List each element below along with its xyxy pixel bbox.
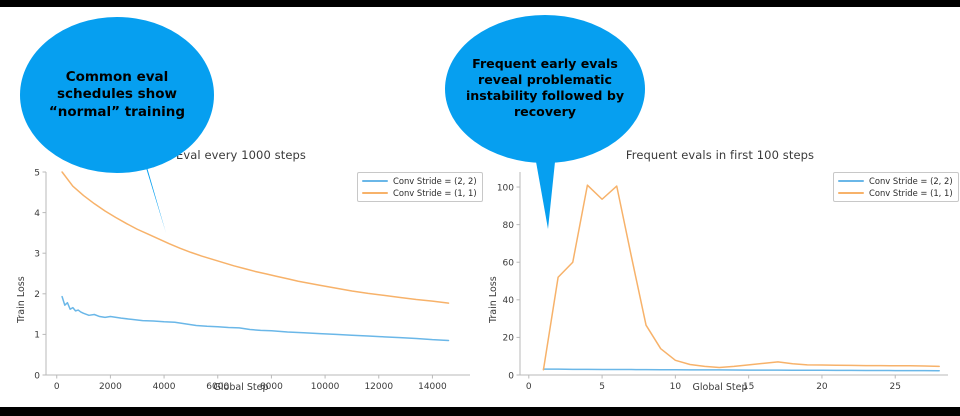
chart-right-xaxis-label: Global Step [482, 382, 958, 393]
svg-text:60: 60 [503, 259, 515, 269]
bottom-border-bar [0, 407, 960, 416]
callout-bubble-left: Common eval schedules show “normal” trai… [18, 15, 216, 237]
svg-text:3: 3 [34, 250, 40, 260]
chart-left-xaxis-label: Global Step [2, 382, 480, 393]
legend-swatch-blue [838, 180, 864, 182]
callout-bubble-right-shape [440, 13, 650, 231]
legend-swatch-orange [362, 192, 388, 194]
figure-stage: Eval every 1000 steps 020004000600080001… [0, 7, 960, 407]
svg-text:2: 2 [34, 290, 40, 300]
legend-entry-conv-stride-1-1: Conv Stride = (1, 1) [838, 188, 953, 198]
figure-canvas: Eval every 1000 steps 020004000600080001… [0, 0, 960, 416]
svg-text:1: 1 [34, 331, 40, 341]
top-border-bar [0, 0, 960, 7]
chart-right-legend: Conv Stride = (2, 2) Conv Stride = (1, 1… [833, 172, 959, 202]
chart-right-yaxis-label: Train Loss [488, 276, 499, 323]
svg-text:0: 0 [508, 371, 514, 381]
legend-label-conv-stride-2-2: Conv Stride = (2, 2) [869, 176, 953, 186]
legend-swatch-blue [362, 180, 388, 182]
legend-swatch-orange [838, 192, 864, 194]
legend-entry-conv-stride-2-2: Conv Stride = (2, 2) [838, 176, 953, 186]
svg-text:0: 0 [34, 371, 40, 381]
legend-label-conv-stride-1-1: Conv Stride = (1, 1) [869, 188, 953, 198]
chart-left-yaxis-label: Train Loss [16, 276, 27, 323]
callout-bubble-left-shape [18, 15, 216, 237]
svg-text:40: 40 [503, 296, 515, 306]
callout-bubble-right: Frequent early evals reveal problematic … [440, 13, 650, 231]
svg-text:20: 20 [503, 334, 515, 344]
